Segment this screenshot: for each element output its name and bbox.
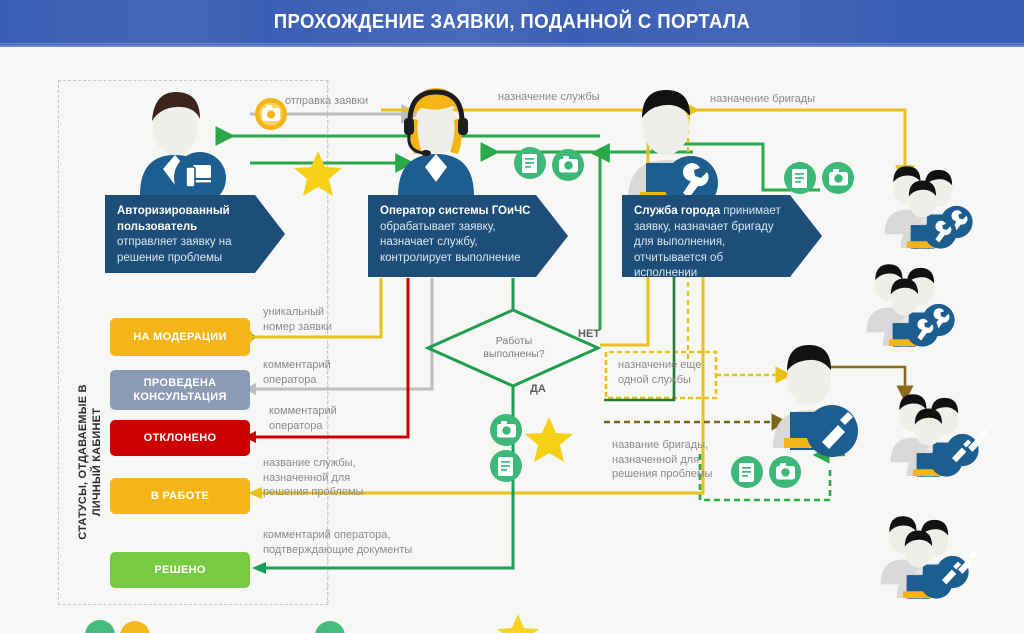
camera-icon [490,414,522,446]
decision-question: Работы выполнены? [468,335,560,361]
camera-icon [822,162,854,194]
label-unique-number: уникальный номер заявки [263,305,332,334]
label-assign-another-service: назначение еще одной службы [618,358,701,387]
status-pill-rejected[interactable]: ОТКЛОНЕНО [110,420,250,456]
document-icon [490,450,522,482]
operator-banner-bold: Оператор системы ГОиЧС [380,205,530,217]
brigade-group-icon-1 [885,166,973,248]
status-pill-rejected-label: ОТКЛОНЕНО [144,431,217,445]
worker-solo-avatar-icon [773,345,858,457]
brigade-group-icon-4 [881,516,978,598]
label-brigade-name: название бригады, назначенной для решени… [612,438,712,482]
label-service-name: название службы, назначенной для решения… [263,456,363,500]
statuses-side-caption: СТАТУСЫ, ОТДАВАЕМЫЕ В ЛИЧНЫЙ КАБИНЕТ [76,342,104,582]
operator-banner: Оператор системы ГОиЧС обрабатывает заяв… [368,195,568,277]
camera-icon [552,149,584,181]
status-pill-solved-label: РЕШЕНО [154,563,205,577]
label-assign-service: назначение службы [498,90,600,105]
city-service-banner-bold: Служба города [634,205,720,217]
status-pill-inwork[interactable]: В РАБОТЕ [110,478,250,514]
brigade-group-icon-3 [891,394,988,476]
label-operator-comment-docs: комментарий оператора, подтверждающие до… [263,528,412,557]
label-assign-brigade: назначение бригады [710,92,815,107]
decision-no-label: НЕТ [578,328,600,340]
worker-avatar-icon [628,90,718,210]
document-icon [731,456,763,488]
label-send-request: отправка заявки [285,94,368,109]
status-pill-solved[interactable]: РЕШЕНО [110,552,250,588]
document-icon [514,147,546,179]
brigade-group-icon-2 [867,264,955,346]
citizen-avatar-icon [140,92,226,204]
camera-icon [255,98,287,130]
decision-yes-label: ДА [530,383,546,395]
bottom-partial-icon-row [85,614,539,633]
citizen-banner: Авторизированный пользователь отправляет… [105,195,285,273]
camera-icon [769,456,801,488]
city-service-banner: Служба города принимает заявку, назначае… [622,195,822,277]
infographic-canvas: ПРОХОЖДЕНИЕ ЗАЯВКИ, ПОДАННОЙ С ПОРТАЛА [0,0,1024,633]
status-pill-consultation-label: ПРОВЕДЕНА КОНСУЛЬТАЦИЯ [133,376,226,404]
status-pill-moderation-label: НА МОДЕРАЦИИ [133,330,226,344]
operator-headset-avatar-icon [398,88,474,196]
status-pill-consultation[interactable]: ПРОВЕДЕНА КОНСУЛЬТАЦИЯ [110,370,250,410]
document-icon [784,162,816,194]
status-pill-inwork-label: В РАБОТЕ [151,489,209,503]
label-operator-comment-2: комментарий оператора [269,404,337,433]
status-pill-moderation[interactable]: НА МОДЕРАЦИИ [110,318,250,356]
label-operator-comment-1: комментарий оператора [263,358,331,387]
